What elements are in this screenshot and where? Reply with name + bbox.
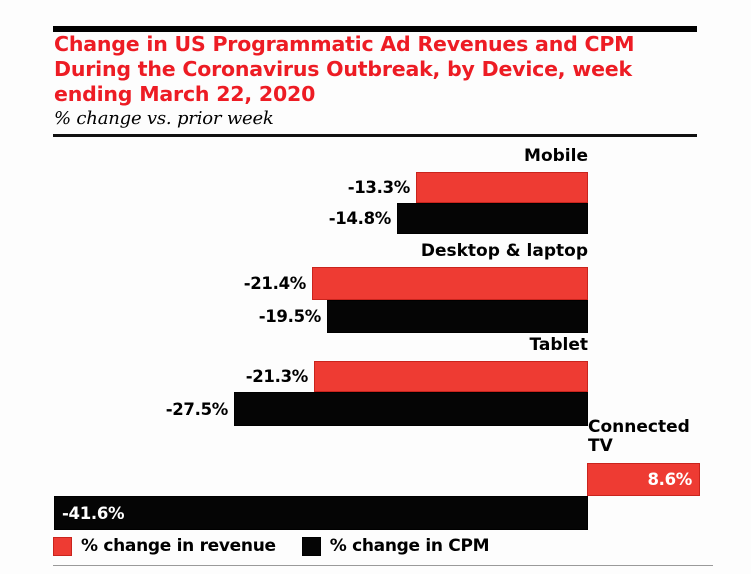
bar-value-mobile-cpm: -14.8% <box>266 209 391 228</box>
bottom-rule <box>53 565 713 566</box>
group-label-tablet: Tablet <box>338 336 588 355</box>
bar-value-desktop-laptop-revenue: -21.4% <box>182 274 306 293</box>
bar-group-tablet: Tablet -21.3% -27.5% <box>0 330 751 420</box>
header-divider-rule <box>53 134 697 137</box>
legend-item-revenue[interactable]: % change in revenue <box>53 536 276 556</box>
chart-page: Change in US Programmatic Ad Revenues an… <box>0 0 751 574</box>
bar-mobile-cpm <box>397 203 588 234</box>
bar-tablet-revenue <box>314 361 588 392</box>
bar-value-connected-tv-revenue: 8.6% <box>592 470 692 489</box>
group-label-connected-tv: Connected TV <box>588 418 738 456</box>
chart-legend: % change in revenue % change in CPM <box>53 536 489 556</box>
legend-swatch-revenue-icon <box>53 537 72 556</box>
group-label-desktop-laptop: Desktop & laptop <box>288 242 588 261</box>
bar-value-connected-tv-cpm: -41.6% <box>62 504 202 523</box>
bar-group-mobile: Mobile -13.3% -14.8% <box>0 140 751 230</box>
legend-item-cpm[interactable]: % change in CPM <box>302 536 490 556</box>
legend-swatch-cpm-icon <box>302 537 321 556</box>
bar-value-mobile-revenue: -13.3% <box>286 178 410 197</box>
legend-label-revenue: % change in revenue <box>81 536 276 556</box>
bar-mobile-revenue <box>416 172 588 203</box>
bar-desktop-laptop-cpm <box>327 300 588 333</box>
group-label-mobile: Mobile <box>338 147 588 166</box>
legend-label-cpm: % change in CPM <box>330 536 490 556</box>
bar-desktop-laptop-revenue <box>312 267 588 300</box>
chart-title: Change in US Programmatic Ad Revenues an… <box>54 32 684 107</box>
bar-group-connected-tv: Connected TV 8.6% -41.6% <box>0 418 751 528</box>
plot-area: Mobile -13.3% -14.8% Desktop & laptop -2… <box>0 140 751 530</box>
bar-value-desktop-laptop-cpm: -19.5% <box>197 307 321 326</box>
chart-subtitle: % change vs. prior week <box>54 108 274 129</box>
bar-value-tablet-cpm: -27.5% <box>104 400 228 419</box>
bar-group-desktop-laptop: Desktop & laptop -21.4% -19.5% <box>0 233 751 323</box>
bar-value-tablet-revenue: -21.3% <box>184 367 308 386</box>
